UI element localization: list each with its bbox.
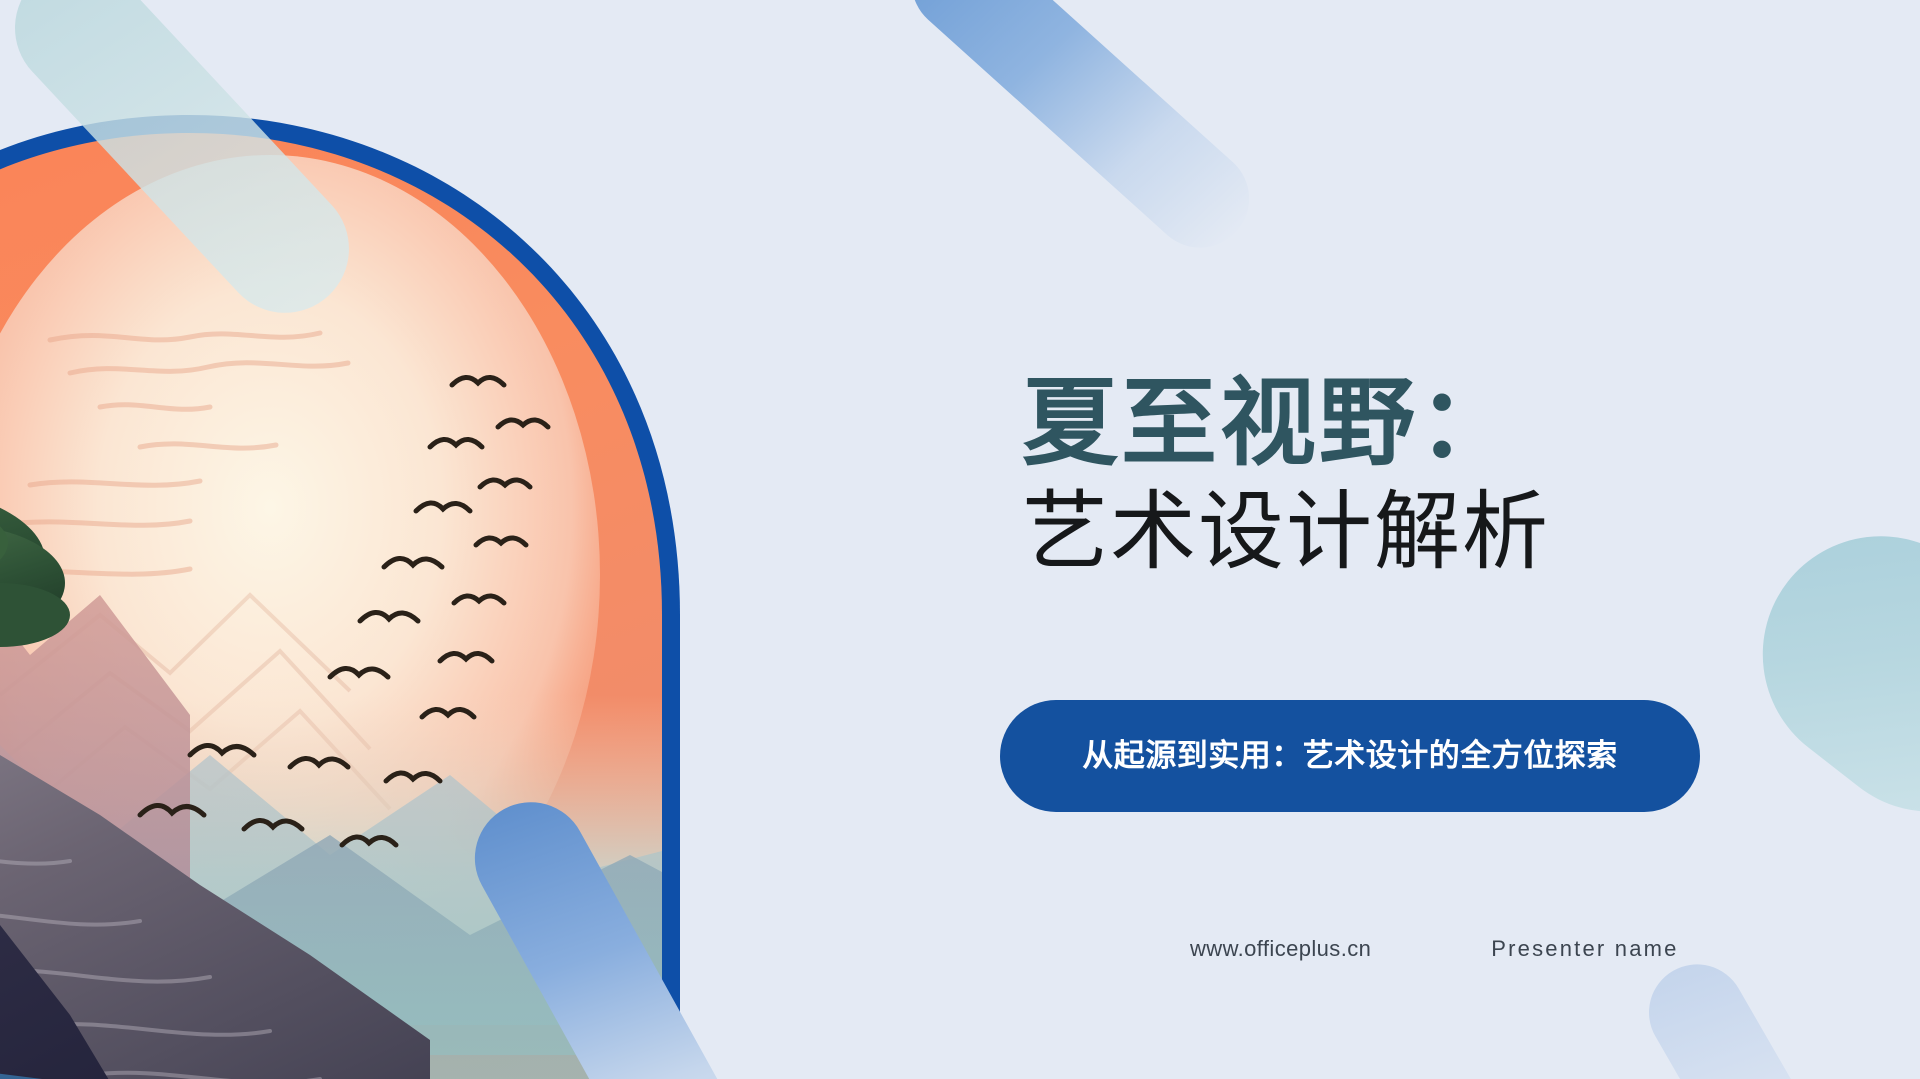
- slide-footer: www.officeplus.cn Presenter name: [1190, 936, 1750, 962]
- decorative-capsule-bottom-right: [1631, 947, 1879, 1079]
- footer-presenter-name: Presenter name: [1491, 936, 1678, 962]
- slide-subtitle-pill[interactable]: 从起源到实用：艺术设计的全方位探索: [1000, 700, 1700, 812]
- footer-website[interactable]: www.officeplus.cn: [1190, 936, 1371, 962]
- presentation-slide: 夏至视野： 艺术设计解析 从起源到实用：艺术设计的全方位探索 www.offic…: [0, 0, 1920, 1079]
- slide-title-line-1: 夏至视野：: [1022, 372, 1742, 476]
- hero-artwork-teardrop: [0, 55, 800, 1079]
- slide-title-line-2: 艺术设计解析: [1022, 482, 1742, 583]
- slide-title-block: 夏至视野： 艺术设计解析: [1022, 372, 1742, 583]
- decorative-capsule-right: [1715, 489, 1920, 860]
- decorative-capsule-top-right: [892, 0, 1270, 268]
- slide-subtitle-text: 从起源到实用：艺术设计的全方位探索: [1082, 735, 1618, 777]
